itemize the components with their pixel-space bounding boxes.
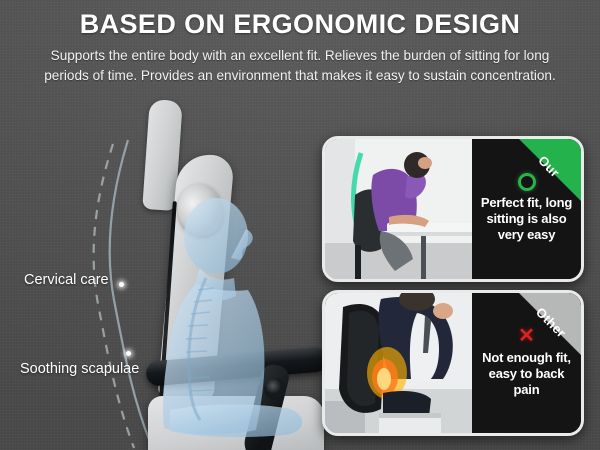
page-subtitle: Supports the entire body with an excelle… <box>28 46 572 86</box>
callout-dot-scapulae <box>126 351 131 356</box>
cross-icon: ✕ <box>518 326 535 346</box>
photo-other-back-pain <box>325 293 472 433</box>
card-caption-line: very easy <box>481 227 572 243</box>
callout-dot-cervical <box>119 282 124 287</box>
card-text-panel-our: Perfect fit, long sitting is also very e… <box>472 139 581 279</box>
comparison-card-other[interactable]: ✕ Not enough fit, easy to back pain Othe… <box>322 290 584 436</box>
callout-label-scapulae: Soothing scapulae <box>20 361 139 377</box>
callout-label-cervical: Cervical care <box>24 272 109 288</box>
card-caption-our: Perfect fit, long sitting is also very e… <box>481 195 572 243</box>
card-caption-line: Perfect fit, long <box>481 195 572 211</box>
card-text-panel-other: ✕ Not enough fit, easy to back pain <box>472 293 581 433</box>
page-title: BASED ON ERGONOMIC DESIGN <box>0 9 600 40</box>
card-caption-line: Not enough fit, <box>478 350 575 366</box>
product-feature-poster: BASED ON ERGONOMIC DESIGN Supports the e… <box>0 0 600 450</box>
card-caption-other: Not enough fit, easy to back pain <box>478 350 575 398</box>
card-caption-line: easy to back pain <box>478 366 575 398</box>
card-caption-line: sitting is also <box>481 211 572 227</box>
photo-our-correct-posture <box>325 139 472 279</box>
comparison-card-our[interactable]: Perfect fit, long sitting is also very e… <box>322 136 584 282</box>
chair-illustration-stage: Cervical care Soothing scapulae Fits lum… <box>0 96 330 450</box>
circle-check-icon <box>518 173 536 191</box>
